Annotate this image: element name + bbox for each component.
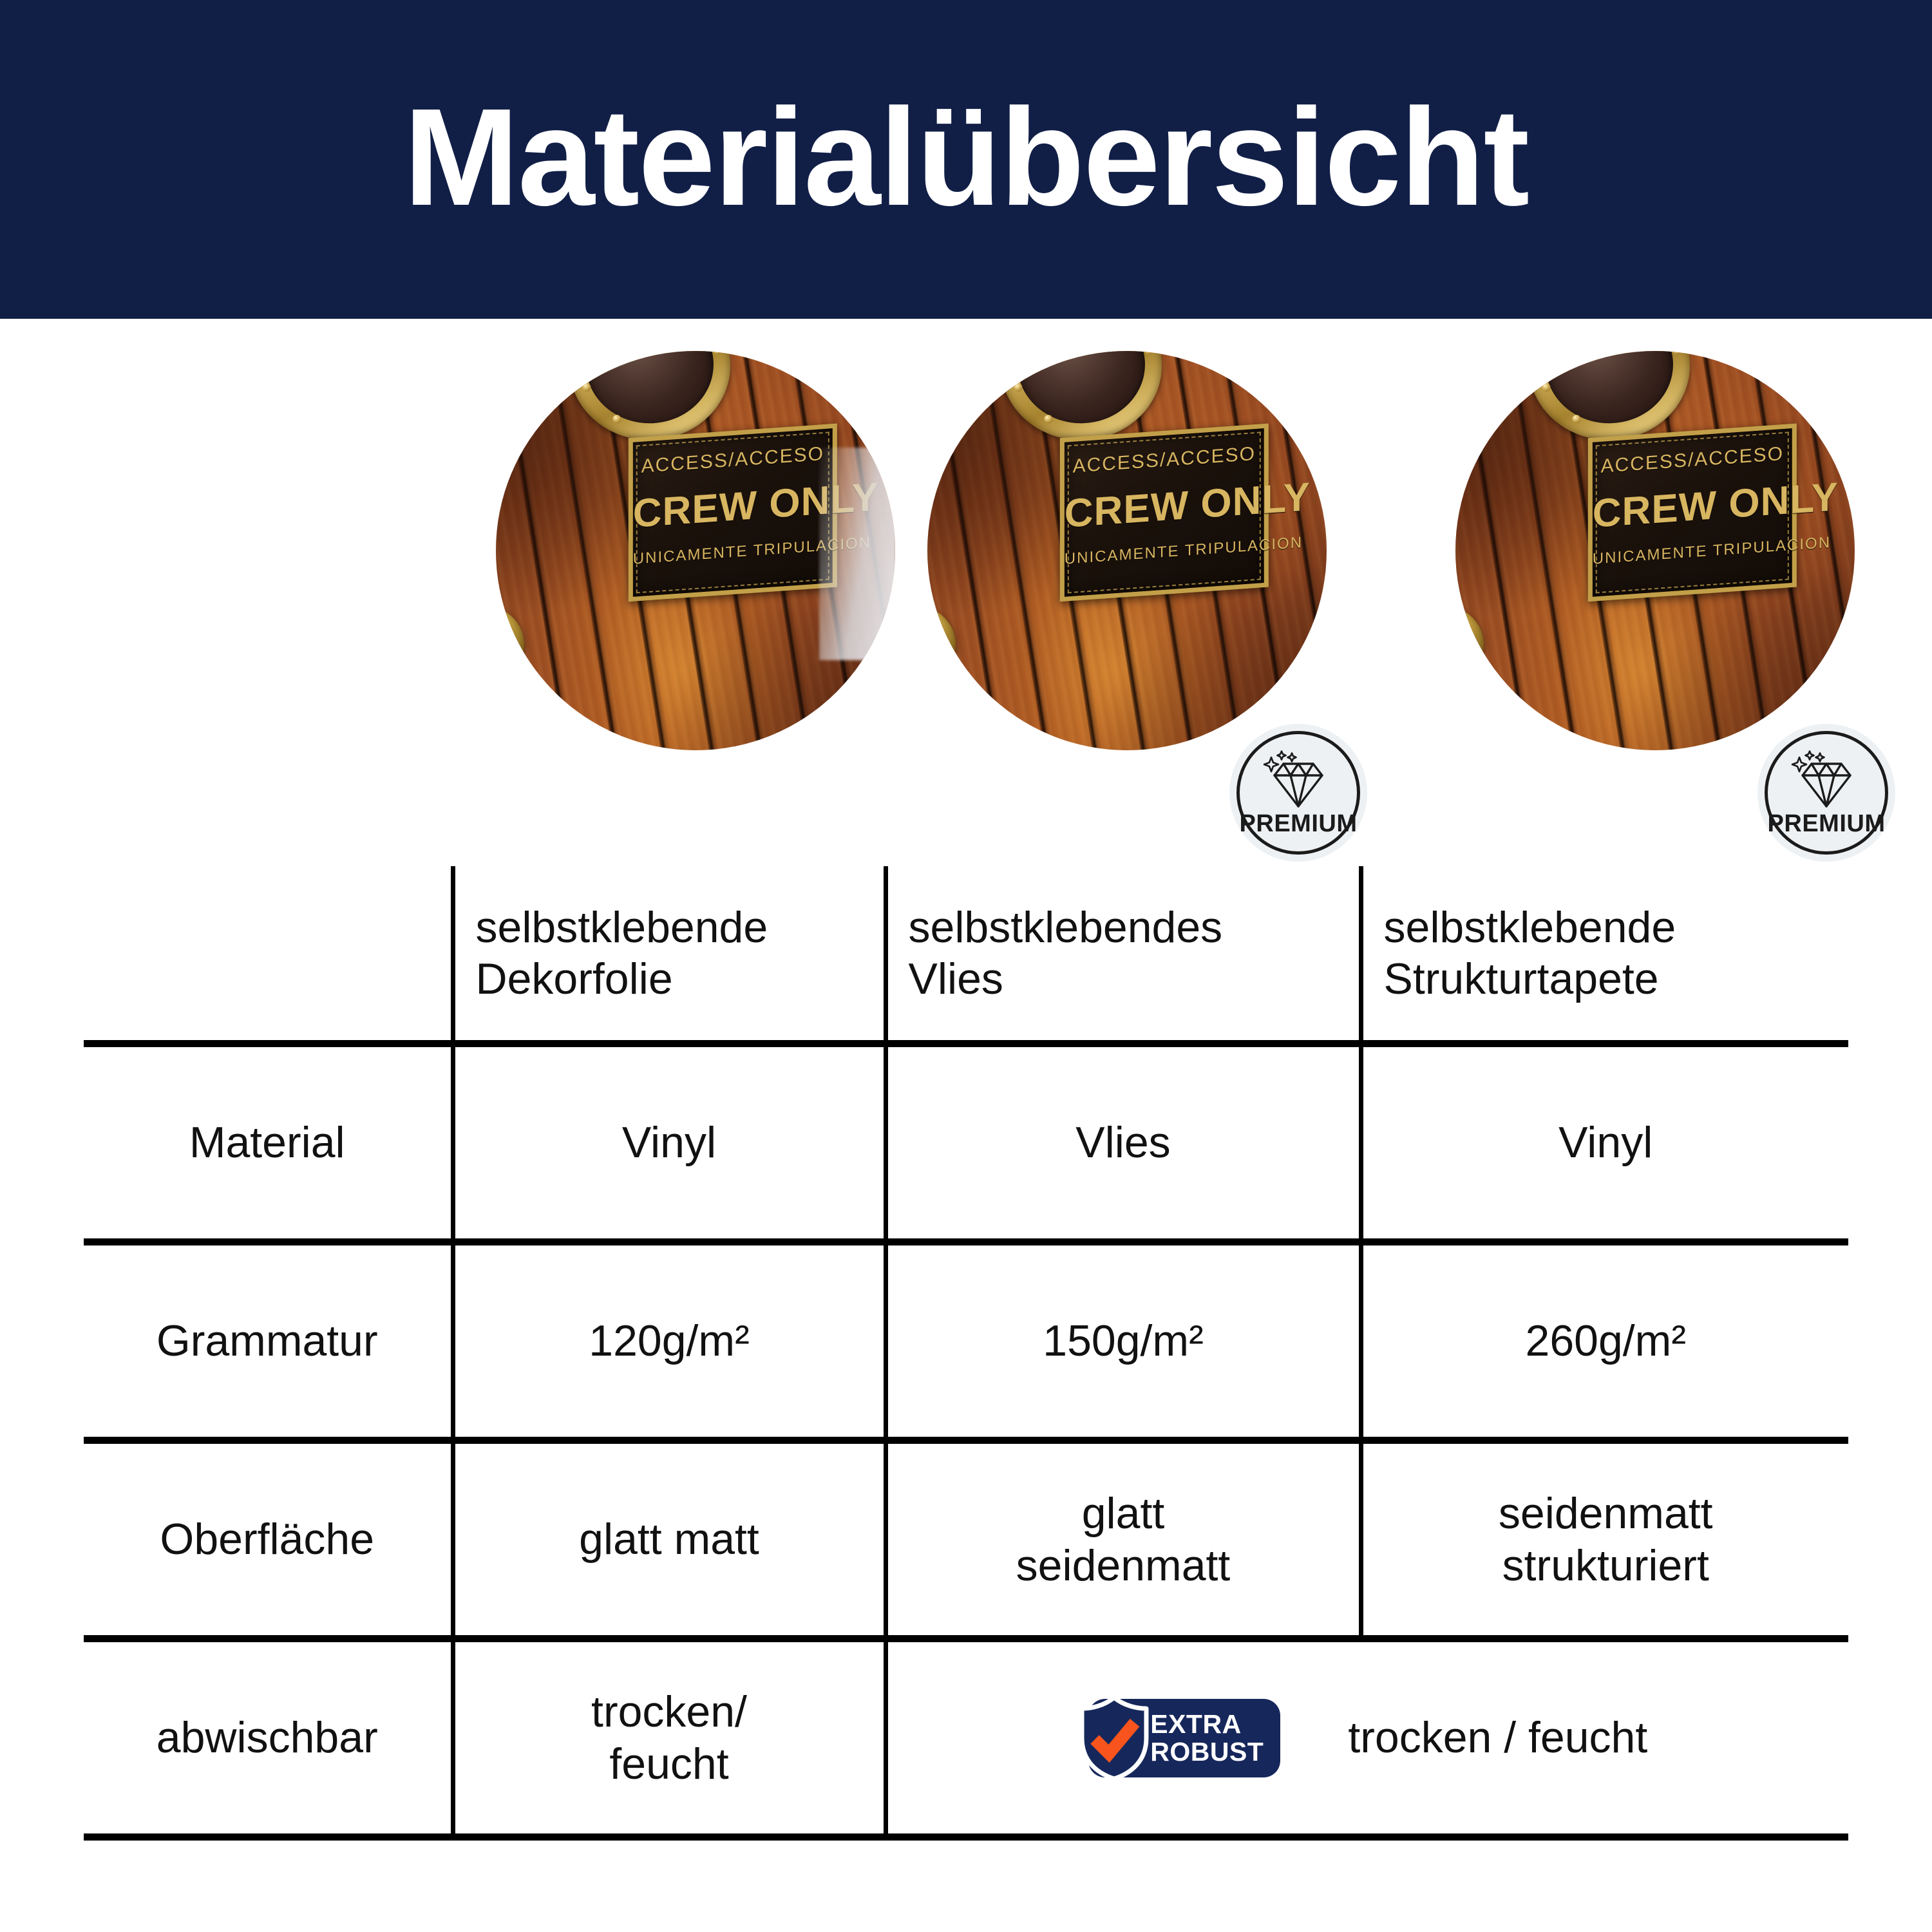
bottom-rule-cell (84, 1837, 453, 1841)
rivet-icon (1014, 383, 1022, 392)
rivet-icon (582, 383, 591, 392)
table-row-abwischbar: abwischbar trocken/ feucht EXTRA ROBUST (84, 1639, 1848, 1837)
cell-material-strukturtapete: Vinyl (1361, 1044, 1848, 1242)
rivet-icon (1572, 415, 1580, 423)
header-label-cell (84, 866, 453, 1044)
header-banner: Materialübersicht (0, 0, 1932, 319)
header-line-2: Strukturtapete (1384, 953, 1837, 1005)
cell-line-2: feucht (466, 1738, 873, 1790)
product-preview-1[interactable]: ACCESS/ACCESO CREW ONLY UNICAMENTE TRIPU… (496, 351, 895, 750)
row-label-grammatur: Grammatur (84, 1242, 453, 1441)
cell-material-vlies: Vlies (885, 1044, 1361, 1242)
porthole-glass (585, 351, 714, 424)
door-photo-scene: ACCESS/ACCESO CREW ONLY UNICAMENTE TRIPU… (1455, 351, 1855, 750)
cell-line-1: glatt (898, 1488, 1349, 1539)
header-line-1: selbstklebende (476, 902, 872, 953)
premium-badge-ring: PREMIUM (1236, 731, 1360, 855)
table-row-grammatur: Grammatur 120g/m² 150g/m² 260g/m² (84, 1242, 1848, 1441)
product-image-vlies: ACCESS/ACCESO CREW ONLY UNICAMENTE TRIPU… (927, 351, 1327, 750)
cell-oberflaeche-dekorfolie: glatt matt (453, 1441, 885, 1639)
porthole-glass (1544, 351, 1674, 424)
header-line-2: Dekorfolie (476, 953, 872, 1005)
premium-badge-strukturtapete: PREMIUM (1752, 718, 1901, 867)
row-label-material: Material (84, 1044, 453, 1242)
cell-abwischbar-merged-text: trocken / feucht (1348, 1712, 1647, 1763)
cell-oberflaeche-vlies: glatt seidenmatt (885, 1441, 1361, 1639)
cell-grammatur-vlies: 150g/m² (885, 1242, 1361, 1441)
table-bottom-rule (84, 1837, 1848, 1841)
door-photo-scene: ACCESS/ACCESO CREW ONLY UNICAMENTE TRIPU… (927, 351, 1327, 750)
table-row-material: Material Vinyl Vlies Vinyl (84, 1044, 1848, 1242)
premium-badge-label: PREMIUM (1240, 811, 1358, 836)
product-preview-3[interactable]: ACCESS/ACCESO CREW ONLY UNICAMENTE TRIPU… (1455, 351, 1855, 750)
crew-only-plaque: ACCESS/ACCESO CREW ONLY UNICAMENTE TRIPU… (629, 424, 837, 602)
rivet-icon (1542, 383, 1550, 392)
bottom-rule-cell (885, 1837, 1361, 1841)
rivet-icon (1672, 351, 1681, 355)
wall-highlight (819, 448, 895, 660)
header-line-1: selbstklebendes (909, 902, 1347, 953)
shield-check-icon (1077, 1696, 1151, 1781)
premium-badge-label: PREMIUM (1768, 811, 1886, 836)
rivet-icon (1044, 415, 1052, 423)
product-preview-row: ACCESS/ACCESO CREW ONLY UNICAMENTE TRIPU… (0, 351, 1932, 763)
rivet-icon (713, 351, 721, 355)
bottom-rule-cell (1361, 1837, 1848, 1841)
rivet-icon (612, 415, 621, 423)
cell-oberflaeche-strukturtapete: seidenmatt strukturiert (1361, 1441, 1848, 1639)
header-line-1: selbstklebende (1384, 902, 1837, 953)
cell-line-2: strukturiert (1374, 1540, 1839, 1591)
porthole-glass (1016, 351, 1146, 424)
rivet-icon (1144, 351, 1153, 355)
product-image-dekorfolie: ACCESS/ACCESO CREW ONLY UNICAMENTE TRIPU… (496, 351, 895, 750)
header-cell-dekorfolie: selbstklebende Dekorfolie (453, 866, 885, 1044)
row-label-oberflaeche: Oberfläche (84, 1441, 453, 1639)
diamond-icon (1788, 750, 1864, 809)
row-label-abwischbar: abwischbar (84, 1639, 453, 1837)
crew-only-plaque: ACCESS/ACCESO CREW ONLY UNICAMENTE TRIPU… (1060, 424, 1269, 602)
robust-line-2: ROBUST (1150, 1738, 1264, 1765)
cell-material-dekorfolie: Vinyl (453, 1044, 885, 1242)
extra-robust-label: EXTRA ROBUST (1150, 1710, 1264, 1765)
cell-line-1: seidenmatt (1374, 1488, 1839, 1539)
table-row-oberflaeche: Oberfläche glatt matt glatt seidenmatt s… (84, 1441, 1848, 1639)
product-preview-2[interactable]: ACCESS/ACCESO CREW ONLY UNICAMENTE TRIPU… (927, 351, 1327, 750)
product-image-strukturtapete: ACCESS/ACCESO CREW ONLY UNICAMENTE TRIPU… (1455, 351, 1855, 750)
merged-cell-content: EXTRA ROBUST trocken / feucht (898, 1699, 1839, 1777)
cell-line-2: seidenmatt (898, 1540, 1349, 1591)
header-cell-vlies: selbstklebendes Vlies (885, 866, 1361, 1044)
cell-line-1: trocken/ (466, 1686, 873, 1738)
premium-badge-ring: PREMIUM (1765, 731, 1888, 855)
header-cell-strukturtapete: selbstklebende Strukturtapete (1361, 866, 1848, 1044)
table-header-row: selbstklebende Dekorfolie selbstklebende… (84, 866, 1848, 1044)
diamond-icon (1260, 750, 1336, 809)
header-line-2: Vlies (909, 953, 1347, 1005)
cell-grammatur-dekorfolie: 120g/m² (453, 1242, 885, 1441)
material-comparison-table: selbstklebende Dekorfolie selbstklebende… (84, 866, 1848, 1841)
robust-line-1: EXTRA (1150, 1710, 1264, 1738)
crew-only-plaque: ACCESS/ACCESO CREW ONLY UNICAMENTE TRIPU… (1588, 424, 1797, 602)
cell-abwischbar-dekorfolie: trocken/ feucht (453, 1639, 885, 1837)
cell-abwischbar-merged: EXTRA ROBUST trocken / feucht (885, 1639, 1848, 1837)
extra-robust-badge: EXTRA ROBUST (1088, 1699, 1280, 1777)
premium-badge-vlies: PREMIUM (1224, 718, 1373, 867)
bottom-rule-cell (453, 1837, 885, 1841)
page-title: Materialübersicht (404, 88, 1528, 226)
cell-grammatur-strukturtapete: 260g/m² (1361, 1242, 1848, 1441)
